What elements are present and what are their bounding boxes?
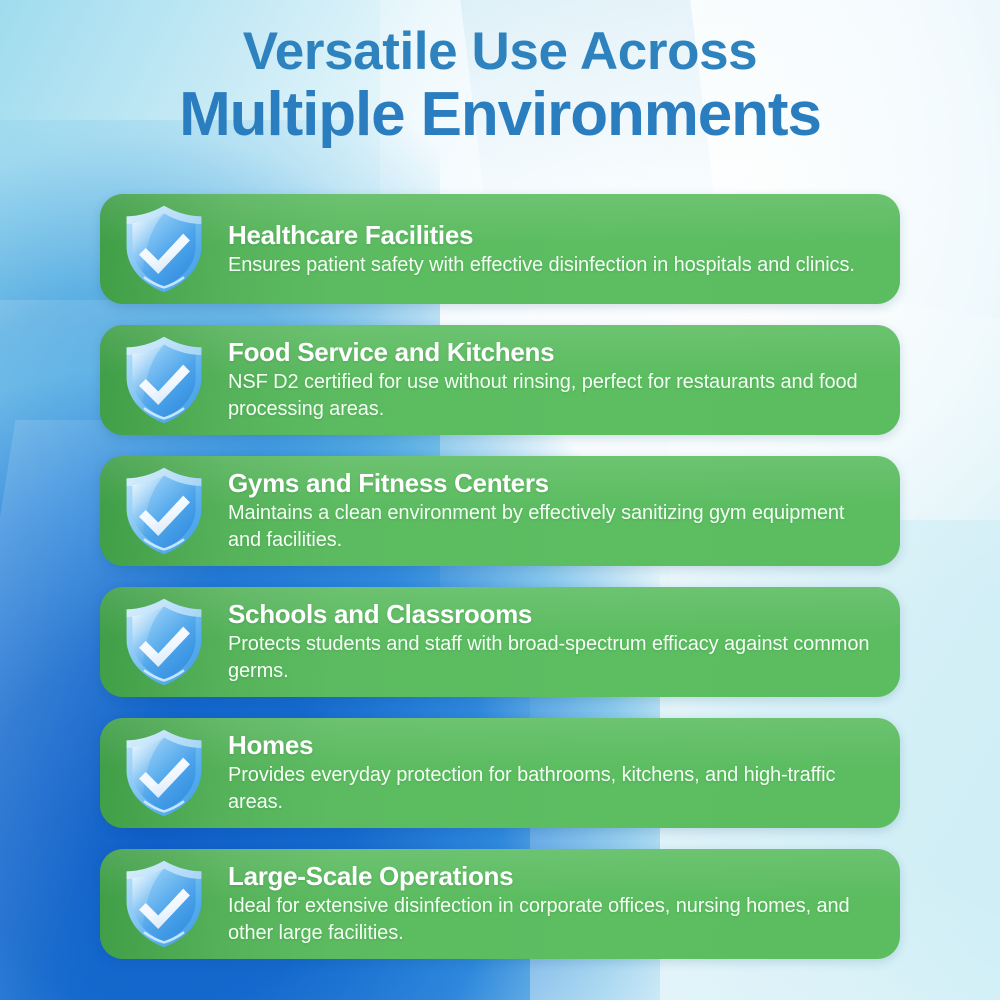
card-text-block: Healthcare Facilities Ensures patient sa… — [228, 220, 900, 279]
title-line-primary: Versatile Use Across — [0, 24, 1000, 80]
page-title: Versatile Use Across Multiple Environmen… — [0, 24, 1000, 148]
card-title: Healthcare Facilities — [228, 220, 874, 250]
shield-check-icon — [110, 326, 218, 434]
shield-check-icon — [110, 588, 218, 696]
card-title: Homes — [228, 730, 874, 760]
card-title: Food Service and Kitchens — [228, 337, 874, 367]
shield-check-icon — [110, 719, 218, 827]
environment-card-6[interactable]: Large-Scale Operations Ideal for extensi… — [100, 849, 900, 959]
environment-card-list: Healthcare Facilities Ensures patient sa… — [100, 194, 900, 959]
environment-card-5[interactable]: Homes Provides everyday protection for b… — [100, 718, 900, 828]
shield-check-icon — [110, 457, 218, 565]
card-description: NSF D2 certified for use without rinsing… — [228, 369, 874, 422]
environment-card-3[interactable]: Gyms and Fitness Centers Maintains a cle… — [100, 456, 900, 566]
shield-check-icon — [110, 195, 218, 303]
infographic-poster: Versatile Use Across Multiple Environmen… — [0, 0, 1000, 1000]
card-description: Ensures patient safety with effective di… — [228, 252, 874, 279]
card-text-block: Large-Scale Operations Ideal for extensi… — [228, 861, 900, 946]
shield-check-icon — [110, 850, 218, 958]
card-text-block: Homes Provides everyday protection for b… — [228, 730, 900, 815]
title-line-secondary: Multiple Environments — [0, 82, 1000, 148]
environment-card-1[interactable]: Healthcare Facilities Ensures patient sa… — [100, 194, 900, 304]
card-text-block: Gyms and Fitness Centers Maintains a cle… — [228, 468, 900, 553]
card-description: Protects students and staff with broad-s… — [228, 631, 874, 684]
card-title: Large-Scale Operations — [228, 861, 874, 891]
card-text-block: Food Service and Kitchens NSF D2 certifi… — [228, 337, 900, 422]
environment-card-2[interactable]: Food Service and Kitchens NSF D2 certifi… — [100, 325, 900, 435]
card-title: Gyms and Fitness Centers — [228, 468, 874, 498]
card-description: Maintains a clean environment by effecti… — [228, 500, 874, 553]
card-description: Ideal for extensive disinfection in corp… — [228, 893, 874, 946]
card-description: Provides everyday protection for bathroo… — [228, 762, 874, 815]
environment-card-4[interactable]: Schools and Classrooms Protects students… — [100, 587, 900, 697]
card-text-block: Schools and Classrooms Protects students… — [228, 599, 900, 684]
card-title: Schools and Classrooms — [228, 599, 874, 629]
